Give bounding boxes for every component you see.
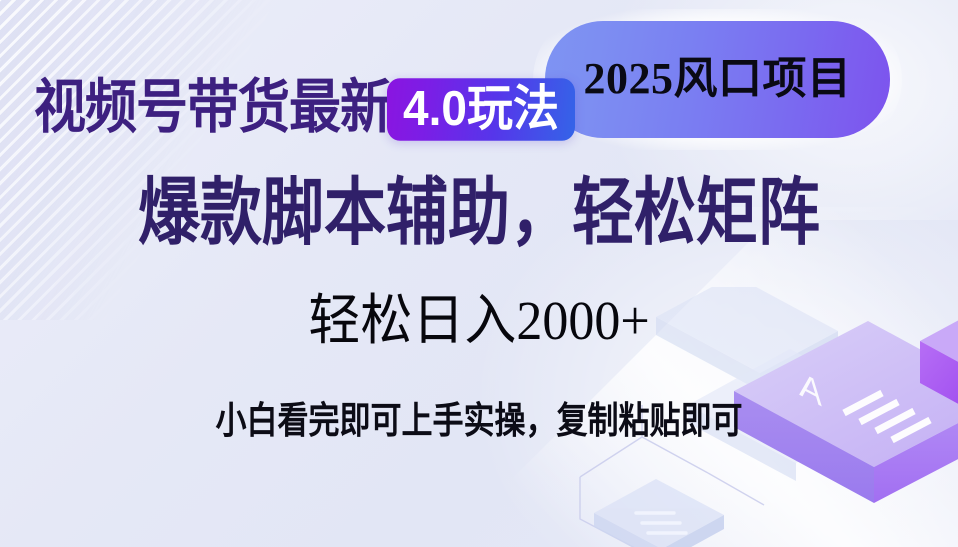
poster-canvas: A 2025风口项目 视频号带货最新	[0, 0, 958, 547]
headline-row-two: 爆款脚本辅助，轻松矩阵	[0, 183, 958, 245]
diagonal-stripe-pattern	[0, 0, 290, 320]
campaign-pill: 2025风口项目	[545, 21, 890, 138]
headline-line-1: 视频号带货最新	[34, 78, 391, 136]
bottom-right-glow	[478, 207, 958, 547]
ghost-card-small	[594, 479, 724, 547]
headline-row-three: 轻松日入2000+	[0, 296, 958, 348]
pill-label: 2025风口项目	[545, 57, 890, 101]
headline-row-four: 小白看完即可上手实操，复制粘贴即可	[0, 405, 958, 436]
headline-line-3: 轻松日入2000+	[308, 294, 649, 349]
headline-line-2: 爆款脚本辅助，轻松矩阵	[138, 177, 820, 250]
version-badge: 4.0玩法	[387, 78, 575, 141]
headline-line-4: 小白看完即可上手实操，复制粘贴即可	[216, 402, 743, 439]
headline-row-one: 视频号带货最新 4.0玩法	[34, 78, 575, 137]
